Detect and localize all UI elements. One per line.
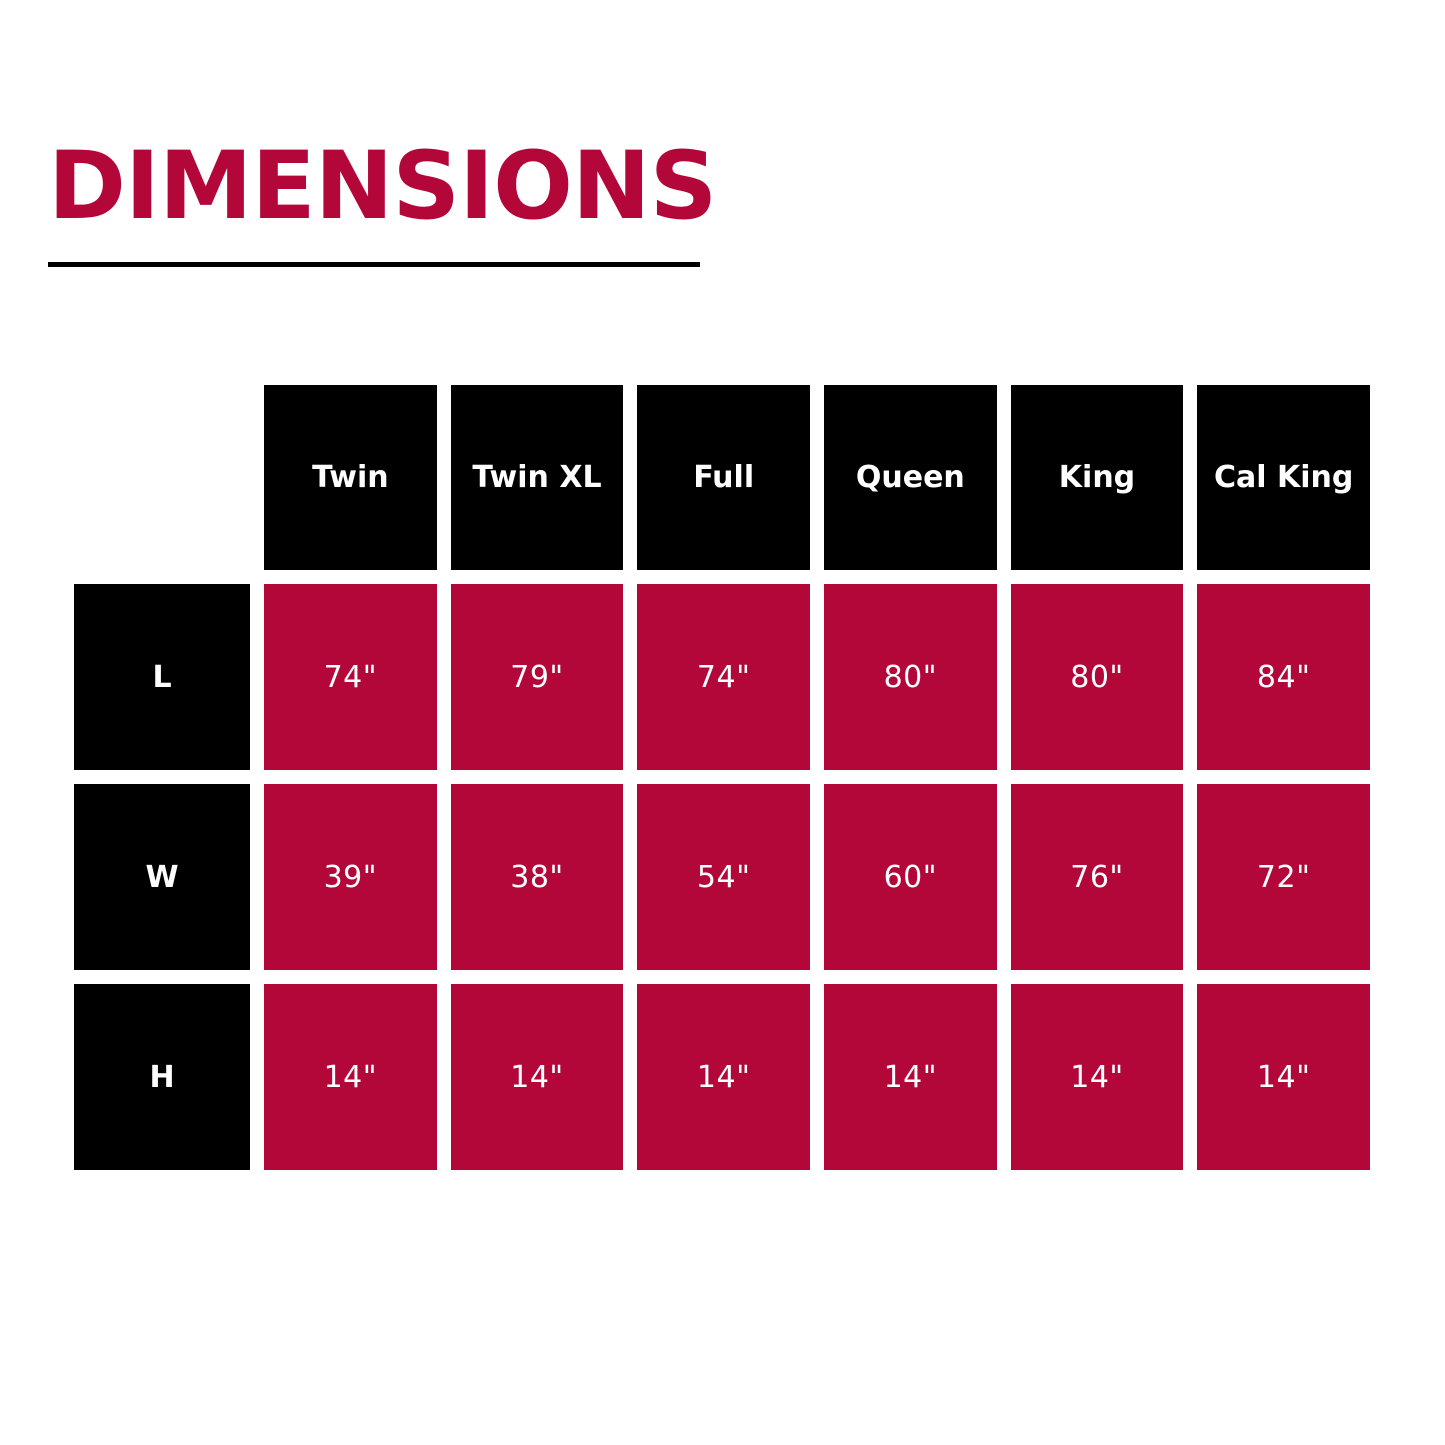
cell-height-full: 14"	[637, 984, 810, 1170]
cell-height-twin: 14"	[264, 984, 437, 1170]
cell-width-cal-king: 72"	[1197, 784, 1370, 970]
title-underline-rule	[48, 262, 700, 267]
column-header-king: King	[1011, 385, 1184, 570]
table-corner-spacer	[74, 385, 250, 570]
cell-length-twin-xl: 79"	[451, 584, 624, 770]
cell-height-cal-king: 14"	[1197, 984, 1370, 1170]
cell-length-king: 80"	[1011, 584, 1184, 770]
column-header-twin: Twin	[264, 385, 437, 570]
cell-height-queen: 14"	[824, 984, 997, 1170]
cell-length-cal-king: 84"	[1197, 584, 1370, 770]
row-header-width: W	[74, 784, 250, 970]
cell-width-full: 54"	[637, 784, 810, 970]
title-block: DIMENSIONS	[48, 140, 708, 267]
cell-width-twin-xl: 38"	[451, 784, 624, 970]
column-header-twin-xl: Twin XL	[451, 385, 624, 570]
cell-length-queen: 80"	[824, 584, 997, 770]
cell-height-king: 14"	[1011, 984, 1184, 1170]
page-title: DIMENSIONS	[48, 140, 708, 234]
cell-width-twin: 39"	[264, 784, 437, 970]
row-header-length: L	[74, 584, 250, 770]
column-header-cal-king: Cal King	[1197, 385, 1370, 570]
cell-height-twin-xl: 14"	[451, 984, 624, 1170]
cell-length-twin: 74"	[264, 584, 437, 770]
cell-width-queen: 60"	[824, 784, 997, 970]
column-header-queen: Queen	[824, 385, 997, 570]
cell-width-king: 76"	[1011, 784, 1184, 970]
column-header-full: Full	[637, 385, 810, 570]
dimensions-table: Twin Twin XL Full Queen King Cal King L …	[74, 385, 1370, 1170]
cell-length-full: 74"	[637, 584, 810, 770]
row-header-height: H	[74, 984, 250, 1170]
